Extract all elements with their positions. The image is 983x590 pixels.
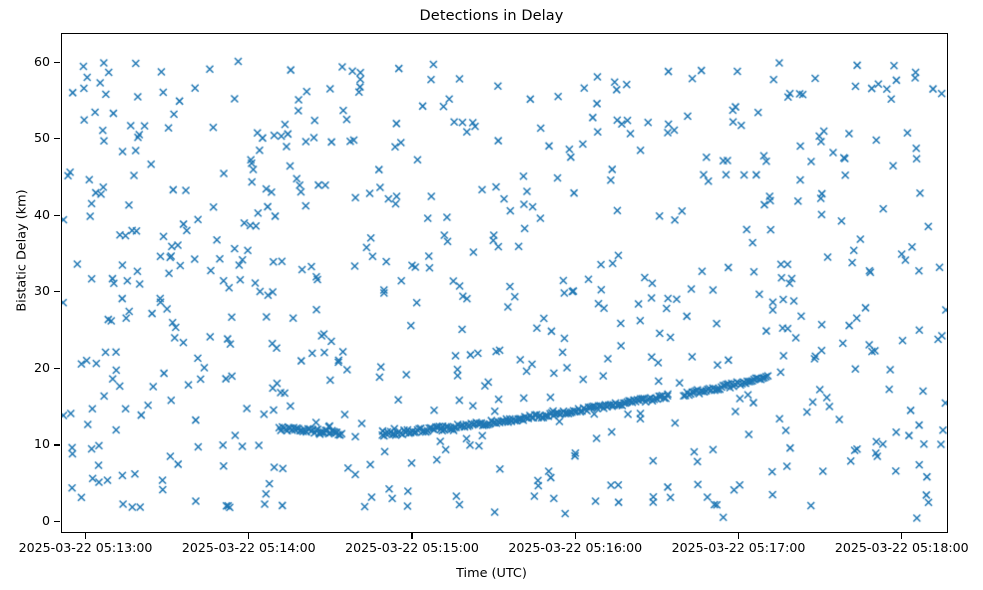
y-tick-mark — [54, 291, 60, 292]
x-tick-mark — [85, 533, 86, 539]
plot-axes — [61, 33, 948, 533]
y-tick-mark — [54, 138, 60, 139]
y-tick-label: 60 — [4, 56, 50, 69]
x-tick-mark — [575, 533, 576, 539]
x-tick-mark — [248, 533, 249, 539]
y-tick-label: 10 — [4, 438, 50, 451]
x-tick-label: 2025-03-22 05:18:00 — [792, 541, 983, 555]
x-tick-mark — [411, 533, 412, 539]
y-axis-label: Bistatic Delay (km) — [15, 141, 30, 361]
y-tick-mark — [54, 368, 60, 369]
y-tick-mark — [54, 215, 60, 216]
y-tick-mark — [54, 444, 60, 445]
y-tick-mark — [54, 521, 60, 522]
x-tick-mark — [901, 533, 902, 539]
scatter-plot-canvas — [62, 34, 947, 532]
y-tick-label: 20 — [4, 362, 50, 375]
x-tick-mark — [738, 533, 739, 539]
matplotlib-figure: Detections in Delay 0102030405060 2025-0… — [0, 0, 983, 590]
y-tick-label: 0 — [4, 515, 50, 528]
chart-title: Detections in Delay — [0, 8, 983, 24]
y-tick-mark — [54, 62, 60, 63]
x-axis-label: Time (UTC) — [0, 566, 983, 581]
